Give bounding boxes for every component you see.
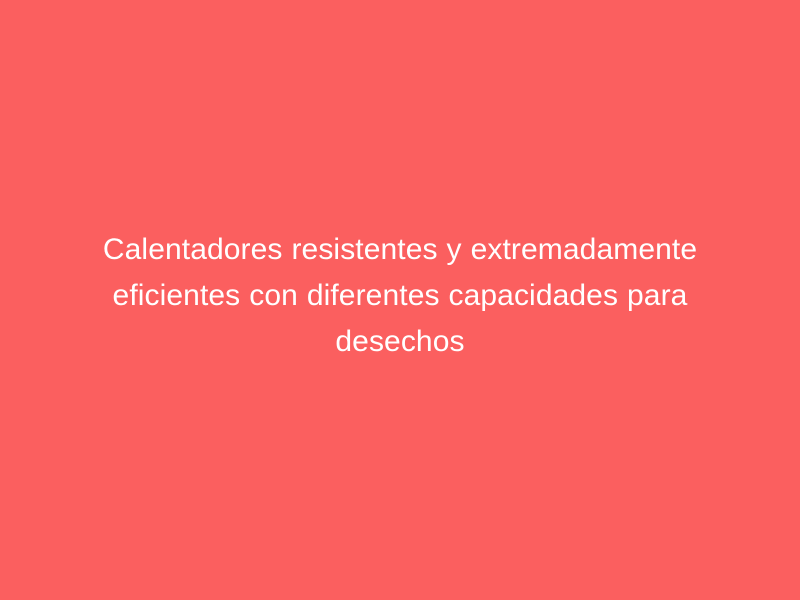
page-title: Calentadores resistentes y extremadament… [70,227,730,365]
headline-block: Calentadores resistentes y extremadament… [60,227,740,365]
hero-banner: Calentadores resistentes y extremadament… [0,0,800,600]
